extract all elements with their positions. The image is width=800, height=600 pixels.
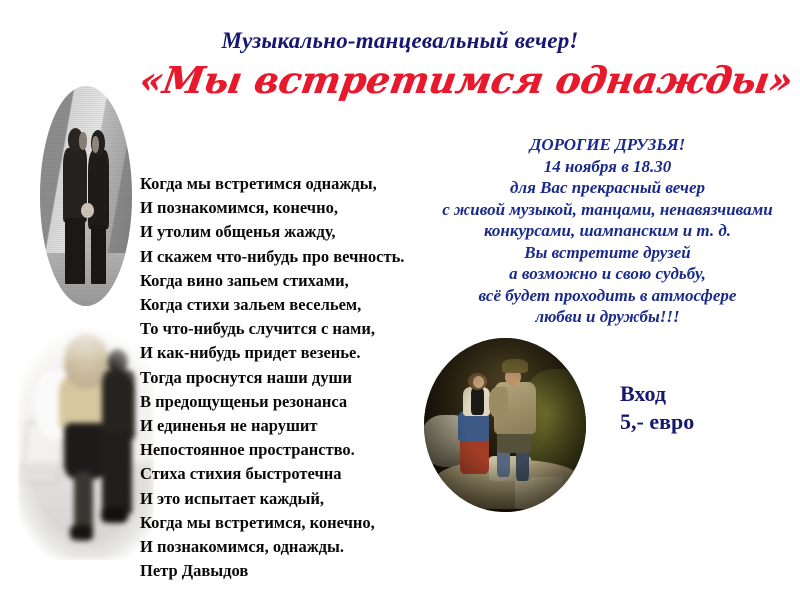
announcement-line: всё будет проходить в атмосфере (415, 285, 800, 307)
poem-line: Стиха стихия быстротечна (140, 462, 440, 486)
announcement-line: конкурсами, шампанским и т. д. (415, 220, 800, 242)
poem-block: Когда мы встретимся однажды, И познакоми… (140, 172, 440, 583)
photo-film-grain (40, 86, 132, 306)
poem-line: Когда мы встретимся однажды, (140, 172, 440, 196)
poem-line: То что-нибудь случится с нами, (140, 317, 440, 341)
poem-line: И как-нибудь придет везенье. (140, 341, 440, 365)
painting-rustic-couple (424, 338, 586, 512)
photo-dancers-inner (18, 328, 154, 560)
poem-line: И это испытает каждый, (140, 487, 440, 511)
poem-line: И утолим общенья жажду, (140, 220, 440, 244)
poem-line: Тогда проснутся наши души (140, 366, 440, 390)
photo-dancer-man-shoe (101, 507, 128, 523)
poem-line: И познакомимся, однажды. (140, 535, 440, 559)
photo-dancer-man-body (102, 370, 135, 440)
announcement-line: Вы встретите друзей (415, 242, 800, 264)
entry-price: 5,- евро (620, 408, 694, 436)
photo-dancer-woman-shoe (70, 525, 93, 541)
announcement-datetime: 14 ноября в 18.30 (415, 156, 800, 178)
announcement-block: ДОРОГИЕ ДРУЗЬЯ! 14 ноября в 18.30 для Ва… (415, 134, 800, 328)
photo-dancer-woman-skirt (64, 423, 106, 479)
poem-line: Непостоянное пространство. (140, 438, 440, 462)
poem-line: Когда мы встретимся, конечно, (140, 511, 440, 535)
poem-line: И познакомимся, конечно, (140, 196, 440, 220)
photo-dancing-couple (18, 328, 154, 560)
announcement-line: а возможно и свою судьбу, (415, 263, 800, 285)
poem-line: Когда вино запьем стихами, (140, 269, 440, 293)
poster-subtitle: «Мы встретимся однажды» (137, 58, 664, 102)
poem-author: Петр Давыдов (140, 559, 440, 583)
announcement-line: любви и дружбы!!! (415, 306, 800, 328)
photo-dancer-man-legs (102, 432, 132, 513)
announcement-heading: ДОРОГИЕ ДРУЗЬЯ! (415, 134, 800, 156)
painting-vignette (424, 338, 586, 512)
announcement-line: для Вас прекрасный вечер (415, 177, 800, 199)
photo-couple-standing (40, 86, 132, 306)
poem-line: И единенья не нарушит (140, 414, 440, 438)
poem-line: И скажем что-нибудь про вечность. (140, 245, 440, 269)
poem-line: Когда стихи зальем весельем, (140, 293, 440, 317)
entry-price-block: Вход 5,- евро (620, 380, 694, 436)
photo-dancer-woman-legs (74, 472, 93, 532)
entry-label: Вход (620, 380, 694, 408)
page-title: Музыкально-танцевальный вечер! (150, 28, 650, 54)
poem-line: В предощущеньи резонанса (140, 390, 440, 414)
announcement-line: с живой музыкой, танцами, ненавязчивами (415, 199, 800, 221)
event-poster: Музыкально-танцевальный вечер! «Мы встре… (0, 0, 800, 600)
